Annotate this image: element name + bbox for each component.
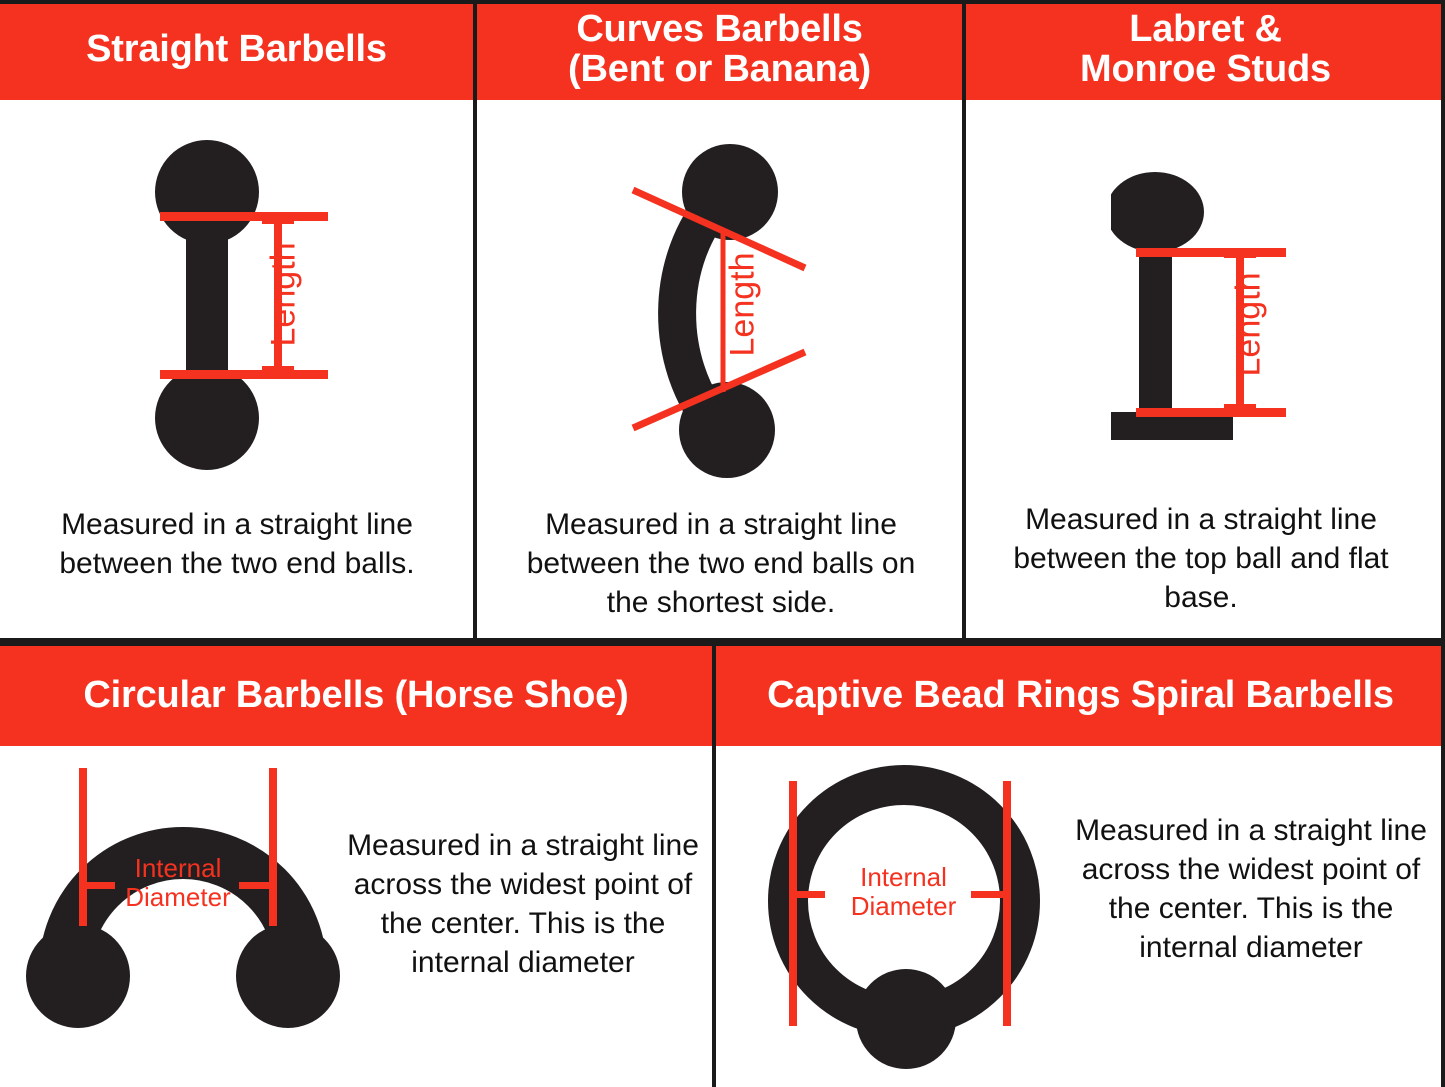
panel-subtitle-labret: Monroe Studs [1080,50,1331,90]
panel-labret-monroe-studs: Labret & Monroe Studs Length [966,0,1445,638]
straight-barbell-diagram: Length [150,120,380,480]
divider-horizontal-row [0,638,1445,646]
panel-header-captive-bead-rings: Captive Bead Rings Spiral Barbells [716,646,1445,746]
captive-bead-ring-diagram: Internal Diameter [756,751,1061,1071]
labret-stud-diagram: Length [1111,150,1361,470]
caption-circular-barbells: Measured in a straight line across the w… [340,826,706,982]
caption-curved-barbells: Measured in a straight line between the … [503,505,939,622]
panel-title-captive-bead-rings: Captive Bead Rings Spiral Barbells [767,676,1394,716]
length-label-labret: Length [1230,265,1269,385]
panel-captive-bead-rings: Captive Bead Rings Spiral Barbells Inter… [716,646,1445,1087]
caption-captive-bead-rings: Measured in a straight line across the w… [1071,811,1431,967]
panel-title-straight-barbells: Straight Barbells [86,30,387,70]
border-top [0,0,1445,4]
caption-straight-barbells: Measured in a straight line between the … [32,505,442,583]
border-right [1441,0,1445,1087]
panel-title-curved-barbells: Curves Barbells [576,10,862,50]
internal-diameter-label-cbr: Internal Diameter [821,863,986,921]
divider-vertical-top-1 [473,0,477,640]
panel-header-circular-barbells: Circular Barbells (Horse Shoe) [0,646,712,746]
panel-header-curved-barbells: Curves Barbells (Bent or Banana) [477,0,962,100]
panel-title-circular-barbells: Circular Barbells (Horse Shoe) [83,676,628,716]
piercing-measurement-infographic: Straight Barbells Le [0,0,1445,1087]
panel-header-straight-barbells: Straight Barbells [0,0,473,100]
curved-barbell-diagram: Length [605,130,855,490]
caption-labret-monroe-studs: Measured in a straight line between the … [986,500,1416,617]
internal-diameter-line2: Diameter [821,892,986,921]
panel-straight-barbells: Straight Barbells Le [0,0,473,638]
internal-diameter-label-horseshoe: Internal Diameter [98,854,258,912]
divider-vertical-bottom-1 [712,646,716,1087]
panel-header-labret-monroe-studs: Labret & Monroe Studs [966,0,1445,100]
horseshoe-barbell-diagram: Internal Diameter [20,756,340,1061]
panel-subtitle-curved-barbells: (Bent or Banana) [568,50,871,90]
panel-circular-barbells: Circular Barbells (Horse Shoe) Internal [0,646,712,1087]
length-label-curved: Length [724,245,763,365]
internal-diameter-line1: Internal [821,863,986,892]
internal-diameter-line2: Diameter [98,883,258,912]
length-label-straight: Length [265,235,304,355]
internal-diameter-line1: Internal [98,854,258,883]
panel-curved-barbells: Curves Barbells (Bent or Banana) Length … [477,0,962,638]
divider-vertical-top-2 [962,0,966,640]
panel-title-labret: Labret & [1129,10,1282,50]
